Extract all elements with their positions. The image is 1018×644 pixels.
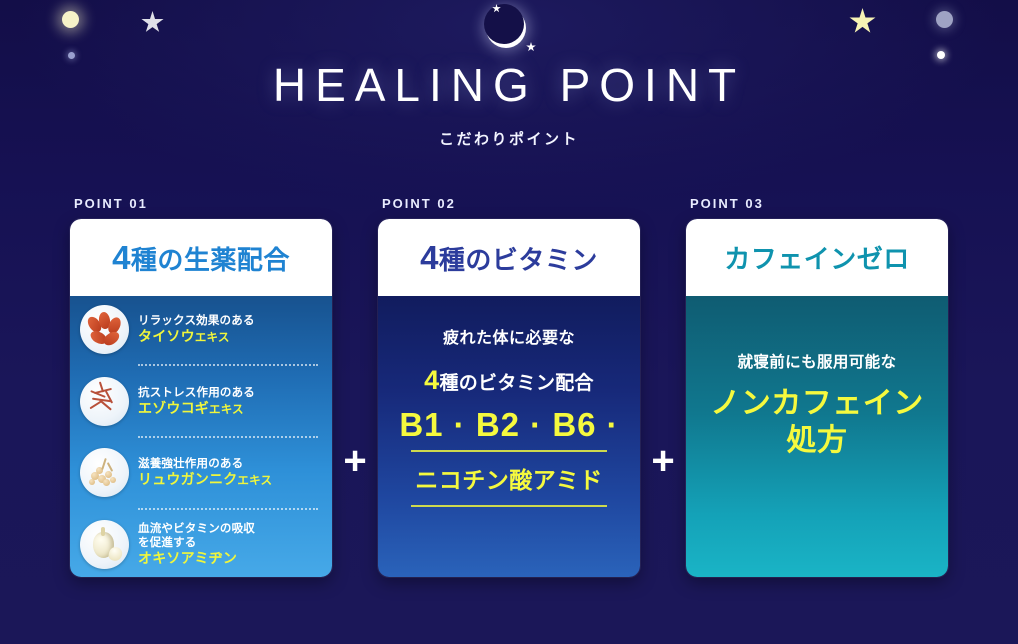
- card-heading-rest-01: 種の生薬配合: [131, 245, 290, 275]
- ingredient-desc-line1: 血流やビタミンの吸収: [138, 522, 255, 536]
- vitamin-mix-number: 4: [424, 365, 439, 395]
- ingredient-name-suffix: エキス: [195, 332, 230, 344]
- ingredient-desc: リラックス効果のある: [138, 314, 255, 328]
- vitamin-list: B1 · B2 · B6 ·: [399, 406, 618, 444]
- card-heading-number-02: 4: [420, 239, 439, 276]
- card-header-02: 4種のビタミン: [378, 219, 640, 296]
- point-label-02: POINT 02: [382, 196, 640, 211]
- card-heading-01: 4種の生薬配合: [112, 239, 290, 277]
- card-heading-number-01: 4: [112, 239, 131, 276]
- ingredient-name: エゾウコギエキス: [138, 400, 255, 417]
- ingredient-text: 滋養強壮作用のある リュウガンニクエキス: [138, 457, 272, 488]
- card-body-03: 就寝前にも服用可能な ノンカフェイン 処方: [686, 296, 948, 577]
- divider: [138, 508, 318, 510]
- ingredient-name: リュウガンニクエキス: [138, 471, 272, 488]
- noncaffeine-main-text: ノンカフェイン 処方: [710, 386, 924, 459]
- card-body-01: リラックス効果のある タイソウエキス: [70, 296, 332, 577]
- jujube-icon: [80, 305, 129, 354]
- card-body-02: 疲れた体に必要な 4種のビタミン配合 B1 · B2 · B6 · ニコチン酸ア…: [378, 296, 640, 577]
- vitamin-underline-2: [411, 505, 607, 507]
- noncaffeine-line-1: ノンカフェイン: [710, 386, 924, 423]
- ingredient-name: オキソアミヂン: [138, 550, 255, 567]
- point-column-02: POINT 02 4種のビタミン 疲れた体に必要な 4種のビタミン配合 B1 ·…: [378, 196, 640, 577]
- ingredient-text: 血流やビタミンの吸収 を促進する オキソアミヂン: [138, 522, 255, 567]
- ingredient-item: リラックス効果のある タイソウエキス: [80, 305, 322, 354]
- plus-separator-2: +: [640, 441, 686, 481]
- ingredient-item: 抗ストレス作用のある エゾウコギエキス: [80, 377, 322, 426]
- ingredient-name: タイソウエキス: [138, 328, 255, 345]
- vitamin-amide-text: ニコチン酸アミド: [415, 461, 603, 495]
- card-heading-02: 4種のビタミン: [420, 239, 598, 277]
- card-header-03: カフェインゼロ: [686, 219, 948, 296]
- card-header-01: 4種の生薬配合: [70, 219, 332, 296]
- ingredient-name-suffix: エキス: [237, 475, 272, 487]
- ingredient-item: 血流やビタミンの吸収 を促進する オキソアミヂン: [80, 520, 322, 569]
- point-card-01[interactable]: 4種の生薬配合 リラックス効果のある タイソウエキス: [70, 219, 332, 577]
- ingredient-name-main: エゾウコギ: [138, 400, 209, 416]
- point-card-03[interactable]: カフェインゼロ 就寝前にも服用可能な ノンカフェイン 処方: [686, 219, 948, 577]
- page-header: HEALING POINT こだわりポイント: [0, 0, 1018, 149]
- ingredient-desc-line2: を促進する: [138, 536, 255, 550]
- ingredient-text: リラックス効果のある タイソウエキス: [138, 314, 255, 345]
- garlic-icon: [80, 520, 129, 569]
- ingredient-name-main: リュウガンニク: [138, 471, 237, 487]
- ingredient-item: 滋養強壮作用のある リュウガンニクエキス: [80, 448, 322, 497]
- vitamin-lead-text: 疲れた体に必要な: [443, 324, 575, 348]
- vitamin-mix-text: 4種のビタミン配合: [424, 365, 594, 396]
- plus-separator-1: +: [332, 441, 378, 481]
- point-column-03: POINT 03 カフェインゼロ 就寝前にも服用可能な ノンカフェイン 処方: [686, 196, 948, 577]
- divider: [138, 436, 318, 438]
- vitamin-underline-1: [411, 450, 607, 452]
- ingredient-name-main: タイソウ: [138, 328, 195, 344]
- ingredient-name-suffix: エキス: [209, 404, 244, 416]
- vitamin-mix-rest: 種のビタミン配合: [439, 373, 593, 394]
- point-card-02[interactable]: 4種のビタミン 疲れた体に必要な 4種のビタミン配合 B1 · B2 · B6 …: [378, 219, 640, 577]
- eleuthero-root-icon: [80, 377, 129, 426]
- page-title: HEALING POINT: [0, 62, 1018, 108]
- point-column-01: POINT 01 4種の生薬配合 リラックス効果のある タイソウエキ: [70, 196, 332, 577]
- point-label-01: POINT 01: [74, 196, 332, 211]
- ingredient-desc: 抗ストレス作用のある: [138, 386, 255, 400]
- card-heading-rest-02: 種のビタミン: [439, 245, 598, 275]
- card-heading-03: カフェインゼロ: [724, 239, 910, 276]
- point-label-03: POINT 03: [690, 196, 948, 211]
- divider: [138, 364, 318, 366]
- longan-icon: [80, 448, 129, 497]
- noncaffeine-lead-text: 就寝前にも服用可能な: [737, 350, 896, 372]
- page-subtitle: こだわりポイント: [0, 128, 1018, 149]
- noncaffeine-line-2: 処方: [710, 423, 924, 460]
- ingredient-text: 抗ストレス作用のある エゾウコギエキス: [138, 386, 255, 417]
- ingredient-desc: 滋養強壮作用のある: [138, 457, 272, 471]
- points-row: POINT 01 4種の生薬配合 リラックス効果のある タイソウエキ: [0, 196, 1018, 577]
